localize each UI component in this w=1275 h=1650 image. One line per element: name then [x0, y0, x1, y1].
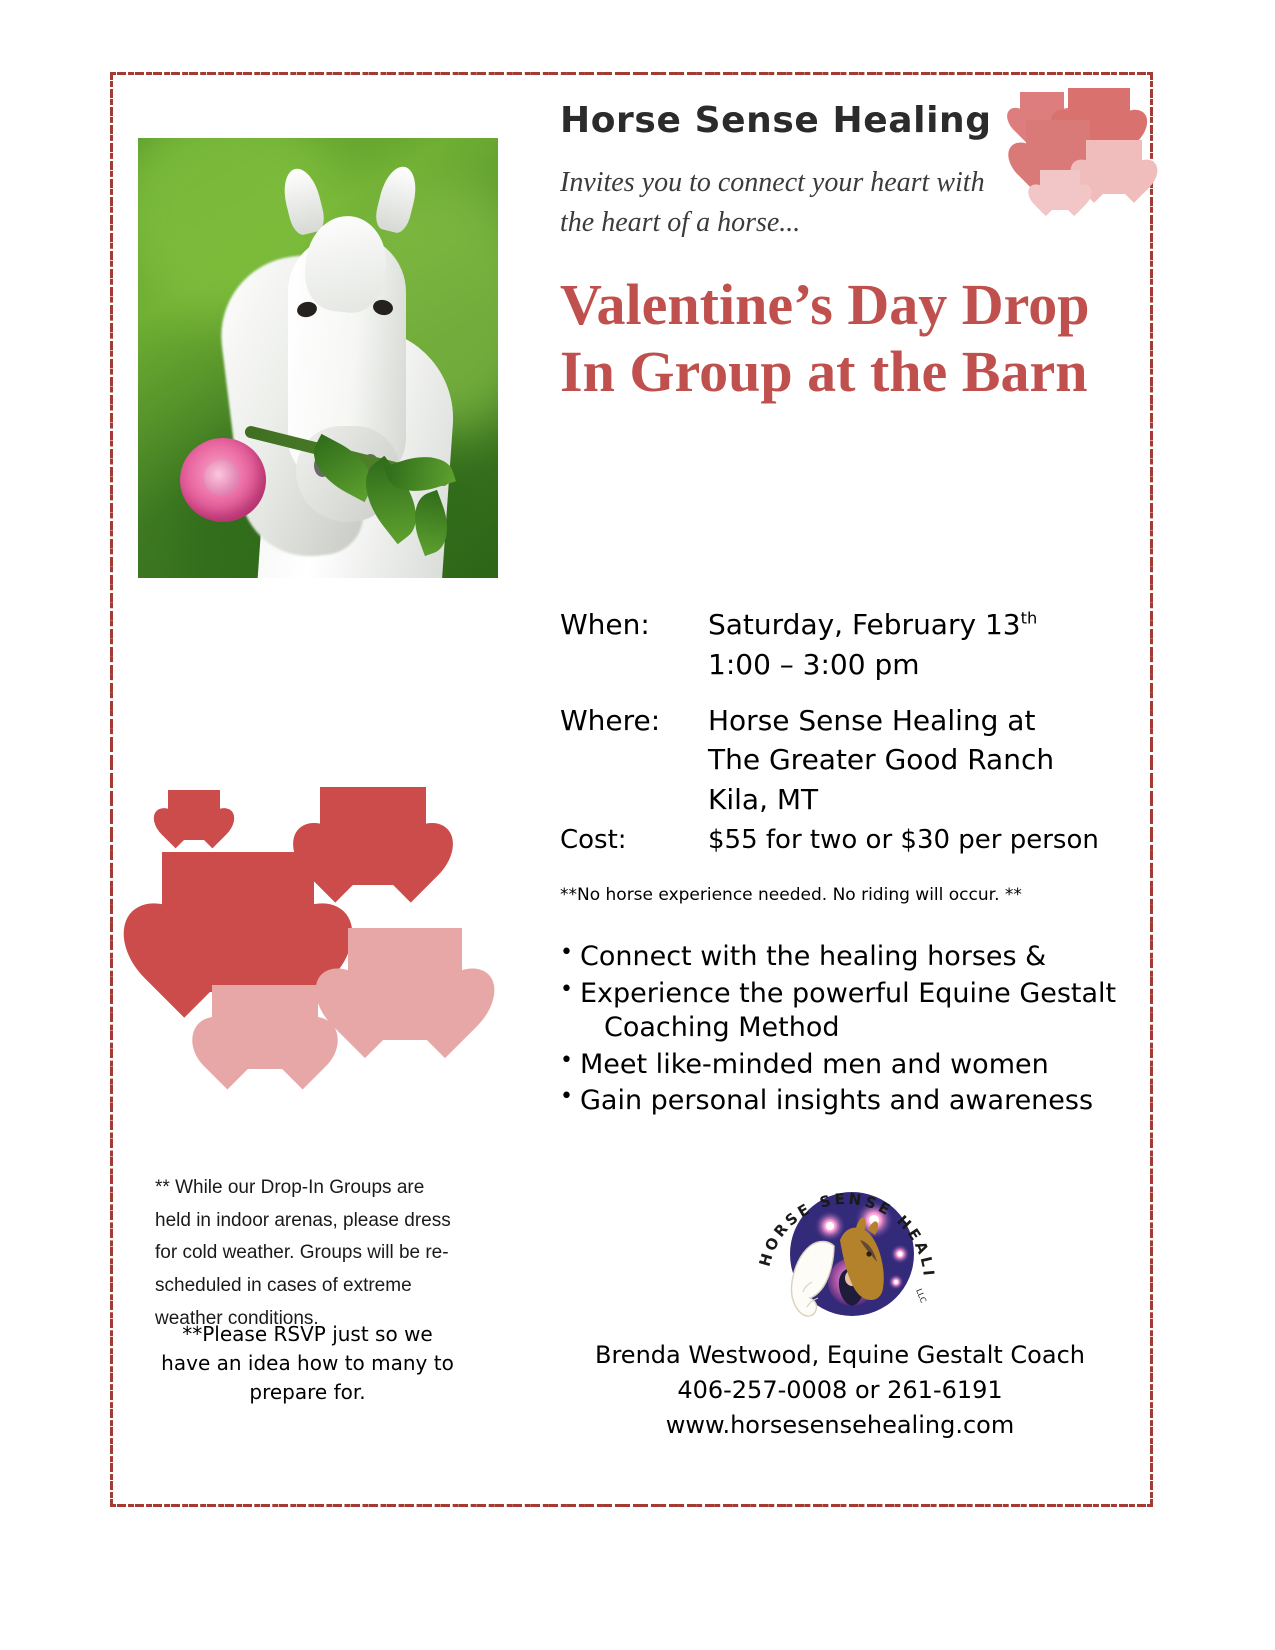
list-item-continuation: Coaching Method: [580, 1011, 1130, 1046]
benefits-list: Connect with the healing horses & Experi…: [560, 940, 1130, 1121]
tagline: Invites you to connect your heart with t…: [560, 163, 990, 243]
where-value: Horse Sense Healing at The Greater Good …: [708, 701, 1054, 820]
when-label: When:: [560, 605, 708, 685]
list-item-text: Meet like-minded men and women: [580, 1049, 1049, 1080]
detail-row-where: Where: Horse Sense Healing at The Greate…: [560, 701, 1130, 820]
horse-photo: [138, 138, 498, 578]
when-date: Saturday, February 13: [708, 608, 1021, 641]
where-label: Where:: [560, 701, 708, 820]
horse-sense-healing-logo: HORSE SENSE HEALING LLC: [748, 1170, 944, 1330]
contact-website[interactable]: www.horsesensehealing.com: [560, 1408, 1120, 1443]
weather-note: ** While our Drop-In Groups are held in …: [155, 1172, 455, 1335]
rsvp-note: **Please RSVP just so we have an idea ho…: [155, 1320, 460, 1407]
cost-label: Cost:: [560, 822, 708, 859]
experience-disclaimer: **No horse experience needed. No riding …: [560, 885, 1120, 905]
where-line-2: The Greater Good Ranch: [708, 743, 1054, 776]
date-ordinal-suffix: th: [1021, 609, 1038, 628]
detail-row-cost: Cost: $55 for two or $30 per person: [560, 822, 1130, 859]
list-item-text: Connect with the healing horses &: [580, 941, 1046, 972]
list-item: Gain personal insights and awareness: [560, 1084, 1130, 1119]
detail-row-when: When: Saturday, February 13th 1:00 – 3:0…: [560, 605, 1130, 685]
heart-icon: [320, 787, 426, 885]
list-item: Meet like-minded men and women: [560, 1048, 1130, 1083]
when-value: Saturday, February 13th 1:00 – 3:00 pm: [708, 605, 1037, 685]
brand-title: Horse Sense Healing: [560, 100, 1120, 141]
flyer-page: Horse Sense Healing Invites you to conne…: [0, 0, 1275, 1650]
when-time: 1:00 – 3:00 pm: [708, 648, 920, 681]
event-title: Valentine’s Day Drop In Group at the Bar…: [560, 271, 1100, 406]
contact-block: Brenda Westwood, Equine Gestalt Coach 40…: [560, 1338, 1120, 1442]
heart-icon: [168, 790, 220, 840]
cost-value: $55 for two or $30 per person: [708, 822, 1099, 859]
contact-name: Brenda Westwood, Equine Gestalt Coach: [560, 1338, 1120, 1373]
pink-rose-icon: [180, 438, 266, 522]
heart-icon: [162, 852, 314, 992]
contact-phone: 406-257-0008 or 261-6191: [560, 1373, 1120, 1408]
list-item: Experience the powerful Equine Gestalt C…: [560, 977, 1130, 1046]
heart-icon: [212, 985, 318, 1069]
event-details: When: Saturday, February 13th 1:00 – 3:0…: [560, 605, 1130, 859]
where-line-3: Kila, MT: [708, 783, 818, 816]
header-block: Horse Sense Healing Invites you to conne…: [560, 100, 1120, 405]
logo-llc-text: LLC: [914, 1287, 928, 1304]
heart-icon: [348, 928, 462, 1040]
where-line-1: Horse Sense Healing at: [708, 704, 1035, 737]
list-item-text: Experience the powerful Equine Gestalt: [580, 978, 1116, 1009]
list-item: Connect with the healing horses &: [560, 940, 1130, 975]
list-item-text: Gain personal insights and awareness: [580, 1085, 1093, 1116]
